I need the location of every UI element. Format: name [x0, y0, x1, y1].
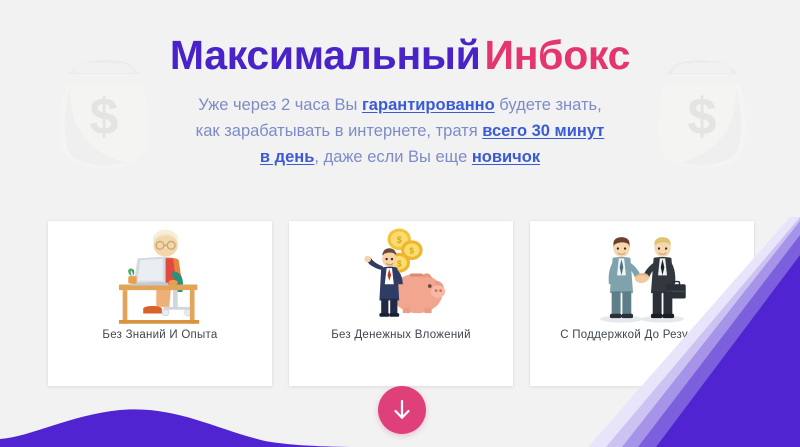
arrow-down-icon	[391, 398, 413, 422]
svg-text:$: $	[410, 247, 415, 256]
feature-card[interactable]: $ $ $	[289, 221, 513, 386]
page-stage: $ $ МаксимальныйИнбокс Уже через 2 часа …	[0, 0, 800, 447]
feature-card[interactable]: С Поддержкой До Результата	[530, 221, 754, 386]
subtitle-line-1: Уже через 2 часа Вы гарантированно будет…	[0, 92, 800, 118]
feature-card[interactable]: Без Знаний И Опыта	[48, 221, 272, 386]
page-title-primary: Максимальный	[170, 32, 481, 78]
subtitle-emphasis: в день	[260, 148, 315, 166]
header: МаксимальныйИнбокс Уже через 2 часа Вы г…	[0, 0, 800, 170]
scroll-down-button[interactable]	[378, 386, 426, 434]
feature-card-label: Без Денежных Вложений	[323, 329, 479, 341]
subtitle-text: будете знать,	[495, 96, 602, 114]
subtitle-emphasis: всего 30 минут	[482, 122, 604, 140]
svg-text:$: $	[397, 235, 402, 245]
feature-card-list: Без Знаний И Опыта $ $ $	[48, 221, 754, 386]
page-title: МаксимальныйИнбокс	[0, 33, 800, 79]
subtitle-line-3: в день, даже если Вы еще новичок	[0, 144, 800, 170]
elderly-person-at-laptop-icon	[48, 221, 272, 329]
subtitle-line-2: как зарабатывать в интернете, тратя всег…	[0, 118, 800, 144]
page-subtitle: Уже через 2 часа Вы гарантированно будет…	[0, 92, 800, 170]
subtitle-text: как зарабатывать в интернете, тратя	[196, 122, 483, 140]
subtitle-emphasis: гарантированно	[362, 96, 495, 114]
feature-card-label: С Поддержкой До Результата	[552, 329, 732, 341]
subtitle-text: Уже через 2 часа Вы	[198, 96, 362, 114]
businessmen-handshake-icon	[530, 221, 754, 329]
subtitle-text: , даже если Вы еще	[314, 148, 471, 166]
man-with-piggy-bank-icon: $ $ $	[289, 221, 513, 329]
feature-card-label: Без Знаний И Опыта	[94, 329, 225, 341]
page-title-accent: Инбокс	[485, 32, 631, 78]
svg-text:$: $	[397, 259, 402, 268]
subtitle-emphasis: новичок	[472, 148, 540, 166]
